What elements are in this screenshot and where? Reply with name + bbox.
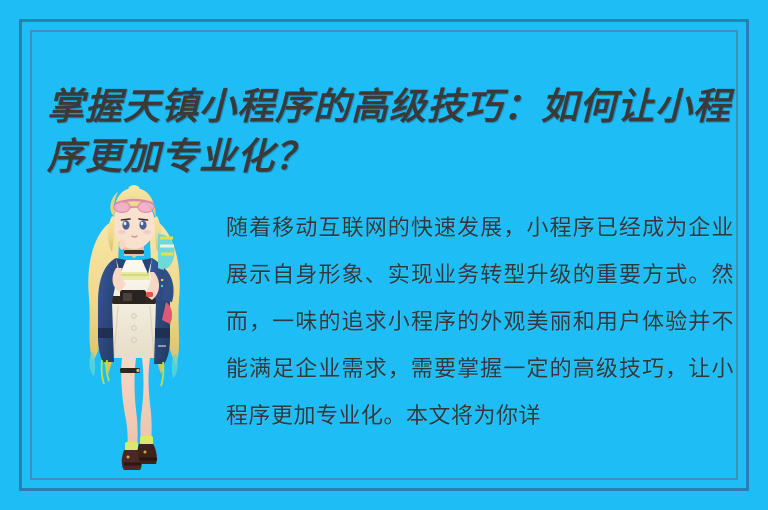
sock-left <box>125 442 138 451</box>
sock-right <box>140 436 153 445</box>
article-body-text: 随着移动互联网的快速发展，小程序已经成为企业展示自身形象、实现业务转型升级的重要… <box>226 205 734 440</box>
leg-right <box>140 358 151 444</box>
article-title: 掌握天镇小程序的高级技巧：如何让小程序更加专业化？ <box>47 81 737 181</box>
article-banner: 掌握天镇小程序的高级技巧：如何让小程序更加专业化？ <box>0 0 768 510</box>
choker <box>124 250 144 254</box>
anime-girl-illustration <box>58 176 210 472</box>
boot-right <box>138 444 157 464</box>
